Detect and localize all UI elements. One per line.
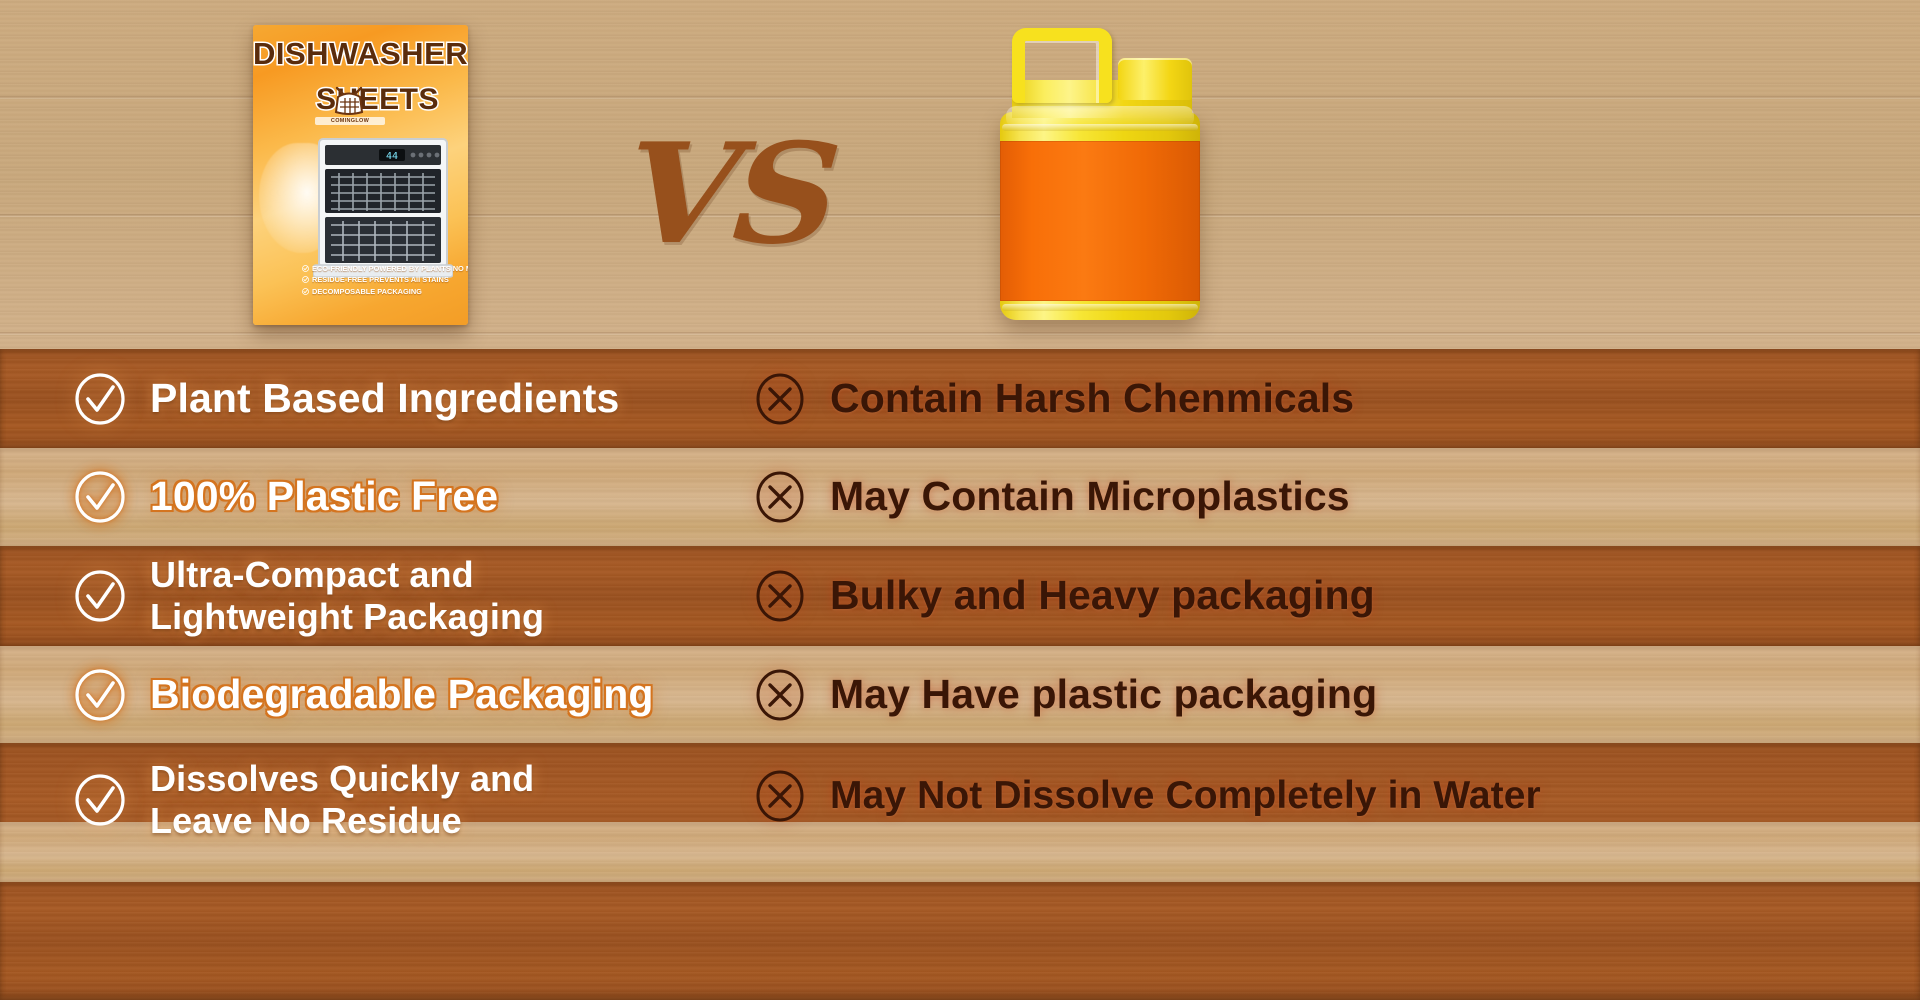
pro-cell: Plant Based Ingredients xyxy=(72,371,619,427)
pro-cell: Dissolves Quickly and Leave No Residue xyxy=(72,758,534,843)
brand-logo-label: COMINGLOW xyxy=(315,117,385,125)
check-circle-icon xyxy=(72,469,128,525)
versus-badge: VS xyxy=(600,108,860,278)
check-circle-icon xyxy=(72,568,128,624)
pro-cell: Ultra-Compact and Lightweight Packaging xyxy=(72,554,544,639)
versus-label: VS xyxy=(621,112,840,275)
con-feature-text: May Have plastic packaging xyxy=(830,673,1377,716)
brand-logo-icon xyxy=(327,78,371,122)
con-feature-text: Contain Harsh Chenmicals xyxy=(830,377,1354,420)
package-bullet: RESIDUE-FREE PREVENTS All STAINS xyxy=(302,274,462,285)
package-bullet: ECO-FRIENDLY POWERED BY PLANTS NO MESS xyxy=(302,263,462,274)
check-badge-icon xyxy=(302,265,309,272)
pro-cell: Biodegradable Packaging xyxy=(72,667,654,723)
con-cell: May Not Dissolve Completely in Water xyxy=(752,768,1541,824)
x-circle-icon xyxy=(752,768,808,824)
x-circle-icon xyxy=(752,667,808,723)
x-circle-icon xyxy=(752,371,808,427)
check-badge-icon xyxy=(302,288,309,295)
con-feature-text: Bulky and Heavy packaging xyxy=(830,574,1375,617)
pro-feature-text: Ultra-Compact and Lightweight Packaging xyxy=(150,554,544,639)
pro-feature-text: Dissolves Quickly and Leave No Residue xyxy=(150,758,534,843)
x-circle-icon xyxy=(752,568,808,624)
check-badge-icon xyxy=(302,276,309,283)
comparison-row: Dissolves Quickly and Leave No Residue M… xyxy=(0,730,1920,990)
package-bullet: DECOMPOSABLE PACKAGING xyxy=(302,286,462,297)
pro-feature-text: Biodegradable Packaging xyxy=(150,673,654,716)
package-bullet-text: DECOMPOSABLE PACKAGING xyxy=(312,286,422,297)
product-package-left[interactable]: DISHWASHER SHEETS COMINGLOW 44 xyxy=(253,25,468,325)
comparison-row: Biodegradable Packaging May Have plastic… xyxy=(0,646,1920,743)
package-bullet-text: ECO-FRIENDLY POWERED BY PLANTS NO MESS xyxy=(312,263,468,274)
pro-cell: 100% Plastic Free xyxy=(72,469,498,525)
pro-feature-text: Plant Based Ingredients xyxy=(150,377,619,420)
product-jug-right[interactable] xyxy=(1000,28,1200,320)
dishwasher-image: 44 xyxy=(313,133,453,283)
infographic-canvas: DISHWASHER SHEETS COMINGLOW 44 xyxy=(0,0,1920,1000)
pro-feature-text: 100% Plastic Free xyxy=(150,475,498,518)
plank-seam xyxy=(0,332,1920,335)
bottom-shadow xyxy=(0,988,1920,1000)
jug-handle xyxy=(1012,28,1112,103)
jug-label xyxy=(1000,141,1200,301)
comparison-row: Plant Based Ingredients Contain Harsh Ch… xyxy=(0,349,1920,448)
svg-text:44: 44 xyxy=(386,151,398,162)
comparison-row: Ultra-Compact and Lightweight Packaging … xyxy=(0,546,1920,646)
con-feature-text: May Not Dissolve Completely in Water xyxy=(830,775,1541,816)
x-circle-icon xyxy=(752,469,808,525)
package-feature-list: ECO-FRIENDLY POWERED BY PLANTS NO MESS R… xyxy=(262,263,462,297)
con-cell: May Contain Microplastics xyxy=(752,469,1350,525)
jug-ridge xyxy=(1002,124,1198,131)
comparison-row: 100% Plastic Free May Contain Microplast… xyxy=(0,448,1920,546)
con-cell: Contain Harsh Chenmicals xyxy=(752,371,1354,427)
con-cell: May Have plastic packaging xyxy=(752,667,1377,723)
jug-ridge xyxy=(1002,304,1198,311)
con-cell: Bulky and Heavy packaging xyxy=(752,568,1375,624)
check-circle-icon xyxy=(72,772,128,828)
jug-cap xyxy=(1118,58,1192,100)
package-bullet-text: RESIDUE-FREE PREVENTS All STAINS xyxy=(312,274,449,285)
check-circle-icon xyxy=(72,667,128,723)
check-circle-icon xyxy=(72,371,128,427)
package-title-line1: DISHWASHER xyxy=(253,36,468,71)
con-feature-text: May Contain Microplastics xyxy=(830,475,1350,518)
